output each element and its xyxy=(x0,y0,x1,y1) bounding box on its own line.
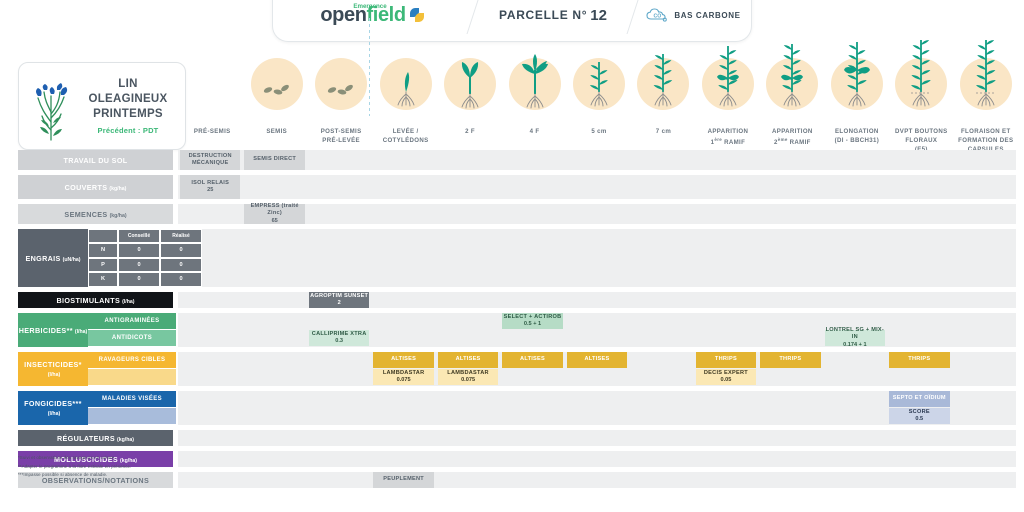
intervention-cell[interactable]: DESTRUCTION MÉCANIQUE xyxy=(180,150,240,170)
stage-illustration-3 xyxy=(376,50,436,110)
intervention-dose: 0.3 xyxy=(335,338,343,345)
row-track-observations xyxy=(178,472,1016,488)
intervention-name: LAMBDASTAR xyxy=(447,370,489,377)
grid-row-insecticides: INSECTICIDES*(l/ha)RAVAGEURS CIBLESALTIS… xyxy=(18,352,1016,386)
row-unit: (uN/ha) xyxy=(63,257,81,263)
footnote-1: **Adapter le programme à la flore estiva… xyxy=(18,463,131,472)
row-label-text: ENGRAIS(uN/ha) xyxy=(25,254,80,263)
stage-label-10: ELONGATION(DI - BBCH31) xyxy=(822,128,892,146)
stage-label-7: 7 cm xyxy=(628,128,698,137)
stage-illustration-6 xyxy=(569,50,629,110)
stage-illustration-12 xyxy=(956,50,1016,110)
row-unit: (l/ha) xyxy=(75,329,87,335)
footnotes: *Suivi et observations des ravageurs en … xyxy=(18,454,131,480)
intervention-name: SCORE xyxy=(909,409,930,416)
intervention-cell[interactable]: SCORE0.5 xyxy=(889,408,949,424)
grid-row-engrais: ENGRAIS(uN/ha)ConseilléRéaliséN00P00K00 xyxy=(18,229,1016,287)
row-label-text: TRAVAIL DU SOL xyxy=(64,156,128,165)
crop-title-line3: PRINTEMPS xyxy=(79,107,177,122)
stage-circle xyxy=(444,58,496,110)
intervention-dose: 0.174 + 1 xyxy=(843,342,866,349)
row-track-molluscicides xyxy=(178,451,1016,467)
engrais-cell-K-1[interactable]: 0 xyxy=(118,272,160,287)
stage-circle xyxy=(766,58,818,110)
row-label-text: SEMENCES(kg/ha) xyxy=(64,210,126,219)
stage-illustration-1 xyxy=(247,50,307,110)
grid-row-observations: OBSERVATIONS/NOTATIONSPEUPLEMENT xyxy=(18,472,1016,488)
intervention-cell[interactable]: ISOL RELAIS25 xyxy=(180,175,240,199)
row-track-engrais xyxy=(178,229,1016,287)
target-pest-cell[interactable]: THRIPS xyxy=(760,352,820,368)
target-pest-name: THRIPS xyxy=(779,356,801,363)
intervention-dose: 0.5 xyxy=(915,416,923,423)
intervention-cell[interactable]: DECIS EXPERT0.05 xyxy=(696,369,756,385)
intervention-dose: 65 xyxy=(272,218,278,225)
row-unit: (l/ha) xyxy=(48,372,60,378)
row-sublabel-insecticides-0: RAVAGEURS CIBLES xyxy=(88,352,176,368)
intervention-dose: 0.05 xyxy=(720,377,731,384)
target-pest-name: SEPTO ET OÏDIUM xyxy=(893,395,946,402)
engrais-cell-N-0: N xyxy=(88,243,118,258)
stage-label-8: APPARITION1ère RAMIF xyxy=(693,128,763,148)
crop-title-line1: LIN xyxy=(79,77,177,92)
row-label-travail_du_sol: TRAVAIL DU SOL xyxy=(18,150,173,170)
row-label-couverts: COUVERTS(kg/ha) xyxy=(18,175,173,199)
engrais-cell-N-1[interactable]: 0 xyxy=(118,243,160,258)
row-label-regulateurs: RÉGULATEURS(kg/ha) xyxy=(18,430,173,446)
row-sublabel-insecticides-1 xyxy=(88,369,176,385)
stage-label-1: SEMIS xyxy=(242,128,312,137)
intervention-dose: 0.075 xyxy=(461,377,475,384)
row-track-couverts xyxy=(178,175,1016,199)
intervention-name: SEMIS DIRECT xyxy=(253,156,296,163)
row-label-text: HERBICIDES**(l/ha) xyxy=(19,326,88,335)
intervention-cell[interactable]: LAMBDASTAR0.075 xyxy=(438,369,498,385)
row-unit: (l/ha) xyxy=(122,299,134,305)
stage-illustration-2 xyxy=(311,50,371,110)
cloud-co2-icon: CO xyxy=(645,7,669,23)
intervention-cell[interactable]: LONTREL SG + MIX-IN0.174 + 1 xyxy=(825,330,885,346)
germination-annotation: Germination / Emergence xyxy=(330,0,410,12)
row-unit: (kg/ha) xyxy=(109,186,126,192)
stage-circle xyxy=(251,58,303,110)
stage-label-5: 4 F xyxy=(500,128,570,137)
grid-row-couverts: COUVERTS(kg/ha)ISOL RELAIS25 xyxy=(18,175,1016,199)
stage-circle xyxy=(509,58,561,110)
stage-illustration-10 xyxy=(827,50,887,110)
crop-title-line2: OLEAGINEUX xyxy=(79,92,177,107)
intervention-cell[interactable]: SEMIS DIRECT xyxy=(244,150,304,170)
engrais-header-0 xyxy=(88,229,118,243)
stage-label-9: APPARITION2ème RAMIF xyxy=(757,128,827,148)
grid-row-fongicides: FONGICIDES***(l/ha)MALADIES VISÉESSEPTO … xyxy=(18,391,1016,425)
stage-circle xyxy=(637,58,689,110)
stage-circle xyxy=(573,58,625,110)
stage-illustration-4 xyxy=(440,50,500,110)
row-sublabel-herbicides-0: ANTIGRAMINÉES xyxy=(88,313,176,329)
stage-illustration-8 xyxy=(698,50,758,110)
grid-row-biostimulants: BIOSTIMULANTS(l/ha)AGROPTIM SUNSET2 xyxy=(18,292,1016,308)
row-label-insecticides: INSECTICIDES*(l/ha) xyxy=(18,352,88,386)
target-pest-cell[interactable]: ALTISES xyxy=(502,352,562,368)
row-unit: (l/ha) xyxy=(48,411,60,417)
stage-circle xyxy=(315,58,367,110)
parcelle-indicator: PARCELLE N° 12 xyxy=(473,0,633,42)
intervention-name: LONTREL SG + MIX-IN xyxy=(825,327,885,342)
growth-stage-labels: PRÉ-SEMISSEMISPOST-SEMISPRÉ-LEVÉELEVÉE /… xyxy=(180,128,1016,152)
crop-previous-label: Précédent : PDT xyxy=(79,126,177,135)
svg-text:CO: CO xyxy=(654,13,662,19)
target-pest-name: THRIPS xyxy=(715,356,737,363)
stage-circle xyxy=(960,58,1012,110)
row-track-regulateurs xyxy=(178,430,1016,446)
row-label-biostimulants: BIOSTIMULANTS(l/ha) xyxy=(18,292,173,308)
stage-illustration-7 xyxy=(633,50,693,110)
engrais-header-1: Conseillé xyxy=(118,229,160,243)
stage-label-6: 5 cm xyxy=(564,128,634,137)
engrais-cell-K-2[interactable]: 0 xyxy=(160,272,202,287)
stage-label-4: 2 F xyxy=(435,128,505,137)
top-ribbon-bar: openfield PARCELLE N° 12 CO BAS CARBONE xyxy=(0,0,1024,42)
target-pest-name: ALTISES xyxy=(520,356,545,363)
target-pest-cell[interactable]: THRIPS xyxy=(696,352,756,368)
stage-circle xyxy=(380,58,432,110)
stage-illustration-5 xyxy=(505,50,565,110)
intervention-name: PEUPLEMENT xyxy=(383,476,424,483)
row-label-text: RÉGULATEURS(kg/ha) xyxy=(57,434,134,443)
stage-circle xyxy=(895,58,947,110)
target-pest-cell[interactable]: SEPTO ET OÏDIUM xyxy=(889,391,949,407)
stage-illustration-9 xyxy=(762,50,822,110)
engrais-cell-N-2[interactable]: 0 xyxy=(160,243,202,258)
leaf-logo-icon xyxy=(410,7,426,23)
row-label-herbicides: HERBICIDES**(l/ha) xyxy=(18,313,88,347)
stage-illustration-11 xyxy=(891,50,951,110)
intervention-name: EMPRESS (traité Zinc) xyxy=(244,203,304,218)
intervention-name: AGROPTIM SUNSET xyxy=(310,293,368,300)
intervention-name: CALLIPRIME XTRA xyxy=(312,331,367,338)
intervention-dose: 0.075 xyxy=(397,377,411,384)
row-label-engrais: ENGRAIS(uN/ha) xyxy=(18,229,88,287)
target-pest-name: ALTISES xyxy=(456,356,481,363)
engrais-cell-P-1[interactable]: 0 xyxy=(118,258,160,273)
germination-line1: Germination / xyxy=(350,0,390,2)
target-pest-cell[interactable]: ALTISES xyxy=(373,352,433,368)
engrais-cell-K-0: K xyxy=(88,272,118,287)
target-pest-name: THRIPS xyxy=(908,356,930,363)
row-unit: (kg/ha) xyxy=(110,213,127,219)
row-track-herbicides xyxy=(178,313,1016,347)
intervention-cell[interactable]: PEUPLEMENT xyxy=(373,472,433,488)
footnote-0: *Suivi et observations des ravageurs en … xyxy=(18,454,131,463)
bas-carbone-badge: CO BAS CARBONE xyxy=(633,0,753,42)
row-label-text: COUVERTS(kg/ha) xyxy=(65,183,127,192)
target-pest-cell[interactable]: ALTISES xyxy=(567,352,627,368)
row-label-fongicides: FONGICIDES***(l/ha) xyxy=(18,391,88,425)
grid-row-travail_du_sol: TRAVAIL DU SOLDESTRUCTION MÉCANIQUESEMIS… xyxy=(18,150,1016,170)
row-label-text: INSECTICIDES*(l/ha) xyxy=(18,360,88,378)
stage-circle xyxy=(702,58,754,110)
footnote-2: ***Impasse possible si absence de maladi… xyxy=(18,471,131,480)
grid-row-molluscicides: MOLLUSCICIDES(kg/ha) xyxy=(18,451,1016,467)
stage-circle xyxy=(831,58,883,110)
intervention-grid: TRAVAIL DU SOLDESTRUCTION MÉCANIQUESEMIS… xyxy=(18,150,1016,493)
intervention-cell[interactable]: EMPRESS (traité Zinc)65 xyxy=(244,204,304,224)
engrais-cell-P-2[interactable]: 0 xyxy=(160,258,202,273)
grid-row-semences: SEMENCES(kg/ha)EMPRESS (traité Zinc)65 xyxy=(18,204,1016,224)
intervention-dose: 0.5 + 1 xyxy=(524,321,541,328)
flax-plant-icon xyxy=(23,70,79,142)
grid-row-herbicides: HERBICIDES**(l/ha)ANTIGRAMINÉESANTIDICOT… xyxy=(18,313,1016,347)
row-label-text: BIOSTIMULANTS(l/ha) xyxy=(56,296,134,305)
target-pest-cell[interactable]: THRIPS xyxy=(889,352,949,368)
row-sublabel-herbicides-1: ANTIDICOTS xyxy=(88,330,176,346)
stage-label-0: PRÉ-SEMIS xyxy=(177,128,247,137)
bas-carbone-label: BAS CARBONE xyxy=(674,11,740,20)
target-pest-name: ALTISES xyxy=(585,356,610,363)
row-sublabel-fongicides-0: MALADIES VISÉES xyxy=(88,391,176,407)
parcelle-label: PARCELLE N° xyxy=(499,8,587,22)
crop-identity-card: LIN OLEAGINEUX PRINTEMPS Précédent : PDT xyxy=(18,62,186,150)
stage-label-3: LEVÉE /COTYLÉDONS xyxy=(371,128,441,146)
row-track-biostimulants xyxy=(178,292,1016,308)
row-label-semences: SEMENCES(kg/ha) xyxy=(18,204,173,224)
engrais-header-2: Réalisé xyxy=(160,229,202,243)
intervention-name: LAMBDASTAR xyxy=(383,370,425,377)
intervention-name: SELECT + ACTIROB xyxy=(504,314,562,321)
engrais-cell-P-0: P xyxy=(88,258,118,273)
intervention-name: DECIS EXPERT xyxy=(704,370,748,377)
row-label-text: FONGICIDES***(l/ha) xyxy=(18,399,88,417)
intervention-cell[interactable]: AGROPTIM SUNSET2 xyxy=(309,292,369,308)
intervention-cell[interactable]: LAMBDASTAR0.075 xyxy=(373,369,433,385)
target-pest-name: ALTISES xyxy=(391,356,416,363)
intervention-dose: 25 xyxy=(207,187,213,194)
germination-line2: Emergence xyxy=(353,3,386,10)
parcelle-number: 12 xyxy=(590,7,607,24)
intervention-cell[interactable]: CALLIPRIME XTRA0.3 xyxy=(309,330,369,346)
grid-row-regulateurs: RÉGULATEURS(kg/ha) xyxy=(18,430,1016,446)
row-sublabel-fongicides-1 xyxy=(88,408,176,424)
target-pest-cell[interactable]: ALTISES xyxy=(438,352,498,368)
intervention-cell[interactable]: SELECT + ACTIROB0.5 + 1 xyxy=(502,313,562,329)
intervention-dose: 2 xyxy=(338,300,341,307)
stage-label-2: POST-SEMISPRÉ-LEVÉE xyxy=(306,128,376,146)
intervention-name: ISOL RELAIS xyxy=(191,180,229,187)
row-unit: (kg/ha) xyxy=(117,437,134,443)
intervention-name: DESTRUCTION MÉCANIQUE xyxy=(180,153,240,168)
